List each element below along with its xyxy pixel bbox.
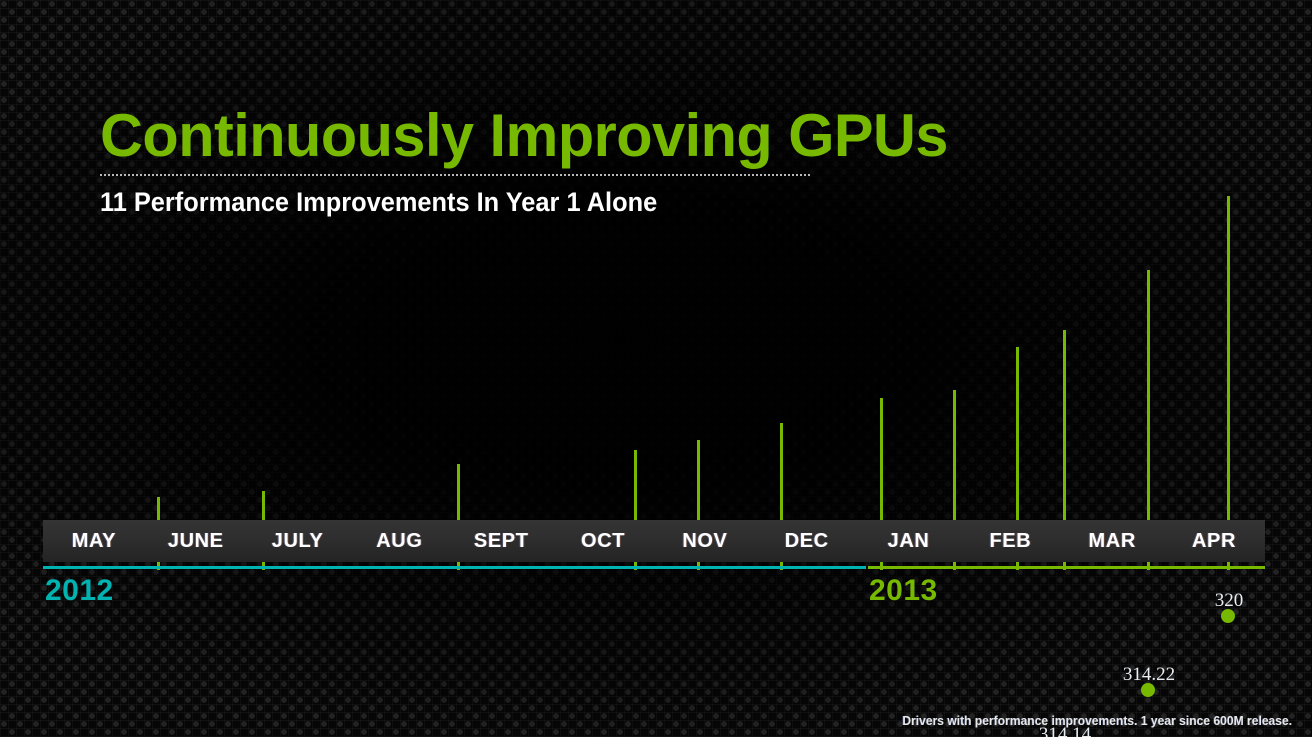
month-label: SEPT — [474, 530, 529, 553]
data-point-dot — [1221, 609, 1235, 623]
month-apr: APR — [1163, 520, 1265, 562]
month-feb: FEB — [959, 520, 1061, 562]
stem-line — [1227, 196, 1230, 570]
month-june: JUNE — [145, 520, 247, 562]
month-label: NOV — [682, 530, 727, 553]
year-rule-2013 — [868, 566, 1265, 569]
month-label: JAN — [888, 530, 930, 553]
year-label-2013: 2013 — [869, 574, 938, 608]
month-label: DEC — [785, 530, 829, 553]
month-axis-bar: MAYJUNEJULYAUGSEPTOCTNOVDECJANFEBMARAPR — [43, 520, 1265, 562]
footnote: Drivers with performance improvements. 1… — [902, 712, 1292, 729]
month-july: JULY — [247, 520, 349, 562]
month-label: MAR — [1089, 530, 1136, 553]
lollipop-chart: 301.42304.48306.02310.33310.54310.64310.… — [43, 150, 1265, 570]
month-dec: DEC — [756, 520, 858, 562]
month-oct: OCT — [552, 520, 654, 562]
month-may: MAY — [43, 520, 145, 562]
year-rule-2012 — [43, 566, 866, 569]
month-label: FEB — [989, 530, 1031, 553]
month-nov: NOV — [654, 520, 756, 562]
data-point-label: 314.22 — [1123, 665, 1175, 684]
month-sept: SEPT — [450, 520, 552, 562]
month-label: APR — [1192, 530, 1236, 553]
month-jan: JAN — [858, 520, 960, 562]
month-label: MAY — [72, 530, 116, 553]
month-label: OCT — [581, 530, 625, 553]
data-point-dot — [1141, 683, 1155, 697]
month-label: JUNE — [168, 530, 224, 553]
year-label-2012: 2012 — [45, 574, 114, 608]
data-point-label: 320 — [1215, 591, 1244, 610]
month-aug: AUG — [348, 520, 450, 562]
month-mar: MAR — [1061, 520, 1163, 562]
month-label: JULY — [272, 530, 324, 553]
slide-root: Continuously Improving GPUs 11 Performan… — [0, 0, 1312, 737]
month-label: AUG — [376, 530, 422, 553]
